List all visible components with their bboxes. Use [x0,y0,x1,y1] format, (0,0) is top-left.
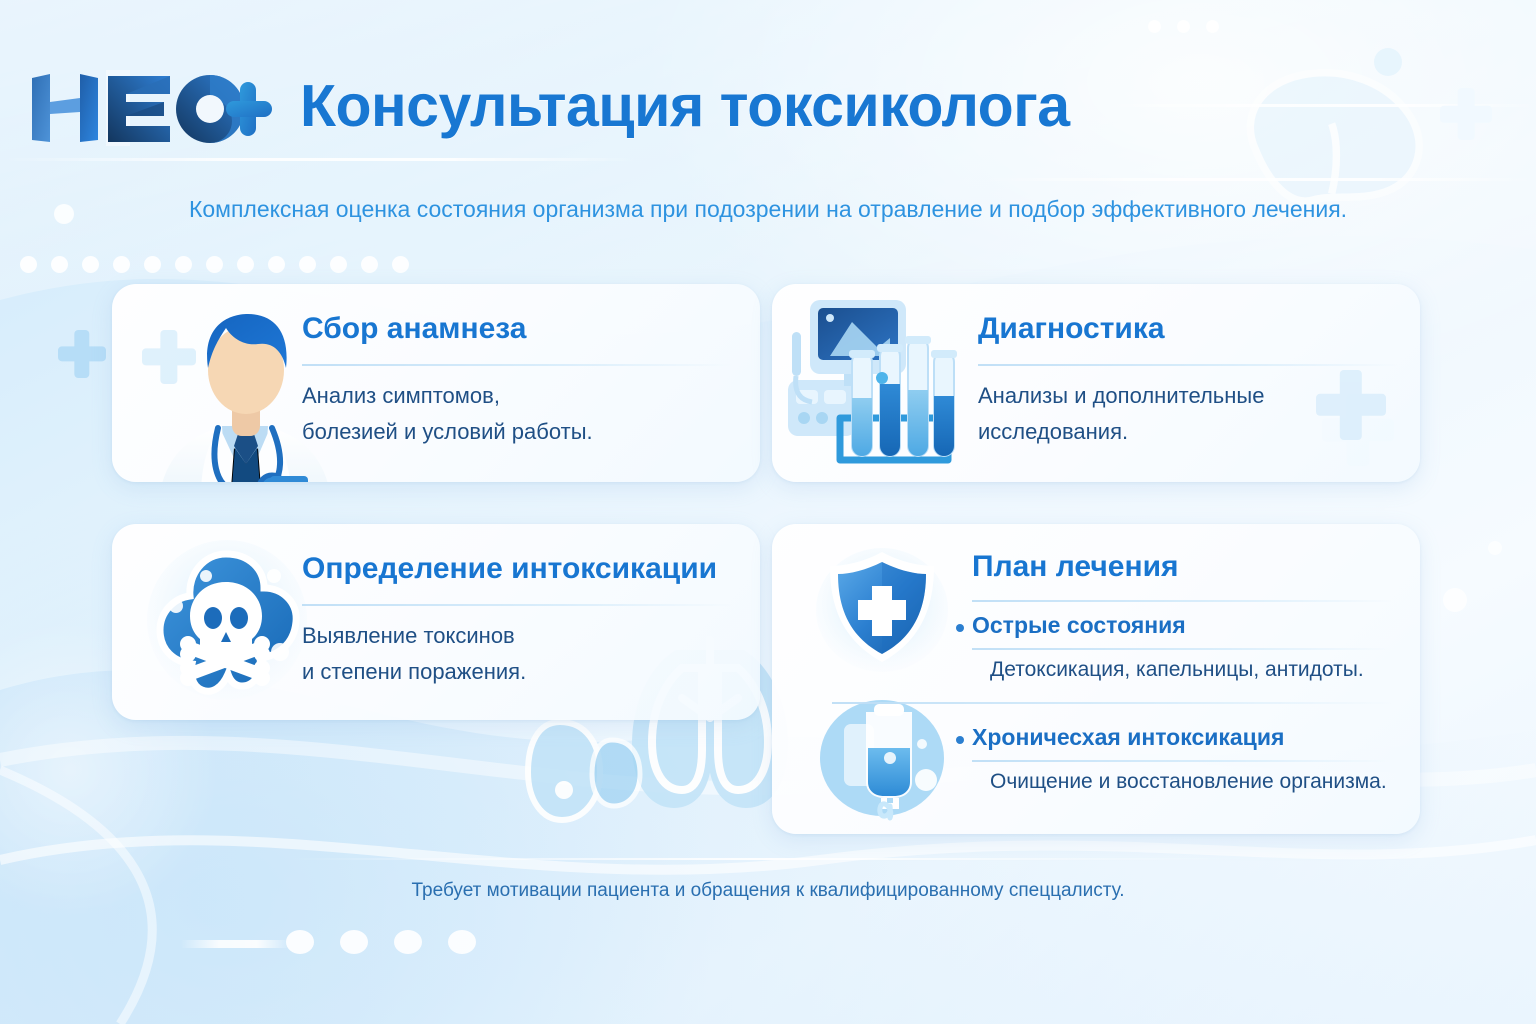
kidney-icon [528,722,640,820]
treatment-item-2-label: Хроничесхая интоксикация [972,724,1284,751]
shield-cross-icon [808,544,956,676]
card-body-line: Выявление токсинов [302,618,742,654]
card-anamnesis-title: Сбор анамнеза [302,312,526,346]
decor-line [0,158,640,161]
background-waves [0,0,1536,1024]
decor-dot-row [1148,20,1219,33]
card-intoxication-body: Выявление токсинов и степени поражения. [302,618,742,689]
card-divider [302,604,732,606]
treatment-item-1-text: Детоксикация, капельницы, антидоты. [990,658,1364,682]
treatment-item-2-text: Очищение и восстановление организма. [990,770,1387,794]
decor-line [1100,104,1536,107]
card-diagnostics-title: Диагностика [978,312,1165,346]
card-anamnesis-body: Анализ симптомов, болезией и условий раб… [302,378,742,449]
background-decoration [0,0,1536,1024]
iv-drip-icon [816,696,948,822]
card-diagnostics[interactable]: Диагностика Анализы и дополнительные исс… [772,284,1420,482]
page-title: Консультация токсиколога [300,72,1070,140]
footer-divider [288,858,1248,860]
card-body-line: Анализ симптомов, [302,378,742,414]
infographic-canvas: Консультация токсиколога Комплексная оце… [0,0,1536,1024]
card-anamnesis[interactable]: Сбор анамнеза Анализ симптомов, болезией… [112,284,760,482]
decor-dot-row [20,256,409,273]
card-body-line: и степени поражения. [302,654,742,690]
card-divider [302,364,732,366]
card-body-line: болезией и условий работы. [302,414,742,450]
card-divider [972,600,1392,602]
logo-neo-plus [28,68,278,148]
card-divider [832,702,1392,704]
decor-line [180,940,290,948]
card-intoxication-title: Определение интоксикации [302,552,717,586]
card-treatment-plan[interactable]: План лечения Острые состояния Детоксикац… [772,524,1420,834]
card-divider [972,760,1392,762]
card-intoxication[interactable]: Определение интоксикации Выявление токси… [112,524,760,720]
card-divider [972,648,1392,650]
lab-equipment-icon [786,294,992,480]
cross-icon [1440,88,1492,140]
treatment-item-1-label: Острые состояния [972,612,1186,639]
footer-note: Требует мотивации пациента и обращения к… [0,880,1536,902]
decor-line [980,178,1536,181]
card-divider [978,364,1398,366]
liver-icon [1250,73,1419,201]
bullet-icon [956,624,964,632]
card-diagnostics-body: Анализы и дополнительные исследования. [978,378,1408,449]
decor-dot-row [286,930,476,954]
decor-circle [1374,48,1402,76]
card-body-line: исследования. [978,414,1408,450]
page-subtitle: Комплексная оценка состояния организма п… [0,196,1536,223]
card-treatment-title: План лечения [972,550,1179,584]
cross-icon [58,330,106,378]
bullet-icon [956,736,964,744]
skull-poison-icon [138,540,316,708]
card-body-line: Анализы и дополнительные [978,378,1408,414]
